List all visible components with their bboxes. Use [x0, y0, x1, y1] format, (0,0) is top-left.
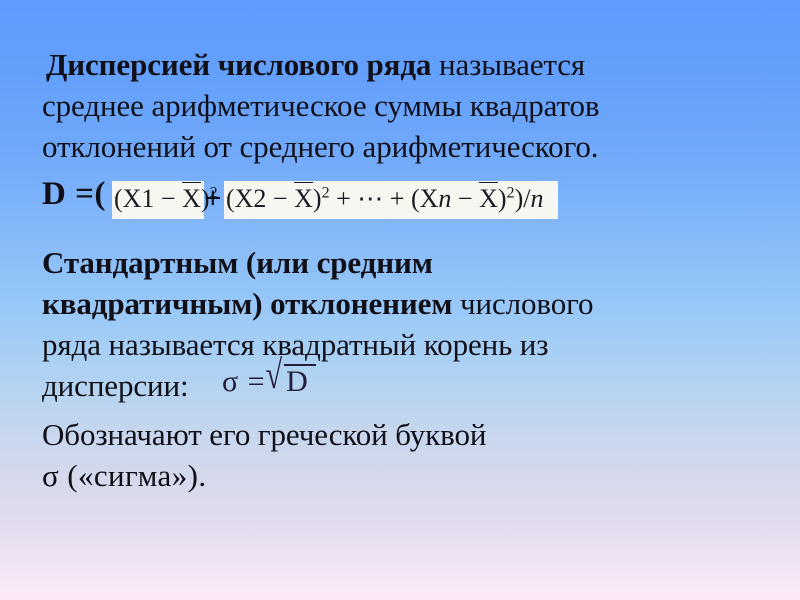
- definition-line-3: отклонений от среднего арифметического.: [0, 126, 800, 167]
- term2-tail: )/: [515, 184, 531, 213]
- notation-line-2-rest: («сигма»).: [59, 458, 206, 493]
- term2-power: 2: [322, 184, 330, 201]
- radical-icon: √: [266, 346, 283, 405]
- term2-index: n: [438, 184, 451, 213]
- term2-power-2: 2: [507, 184, 515, 201]
- paragraph-variance-definition: Дисперсией числового ряда называется сре…: [0, 44, 800, 167]
- formula-variance-plus: +: [204, 178, 222, 218]
- term2-mean-overline: X: [294, 181, 313, 217]
- standard-line-2-rest: числового: [452, 286, 593, 321]
- standard-term-bold-2: квадратичным) отклонением: [42, 286, 452, 321]
- definition-line-1-rest: называется: [431, 47, 585, 82]
- term2-close-2: ): [498, 184, 507, 213]
- formula-sigma: σ =√D: [222, 360, 332, 410]
- term2-open: (X2 −: [226, 184, 294, 213]
- formula-variance-lead: D =(: [42, 174, 106, 214]
- formula-variance-term-1: (X1 − X)2: [112, 181, 204, 219]
- definition-term-bold: Дисперсией числового ряда: [46, 47, 431, 82]
- term1-open: (X1 −: [114, 184, 182, 213]
- definition-line-1: Дисперсией числового ряда называется: [0, 44, 800, 85]
- term2-mean-overline-2: X: [479, 181, 498, 217]
- standard-line-4: дисперсии:: [0, 365, 800, 406]
- term2-dash: −: [451, 184, 479, 213]
- term1-mean-overline: X: [182, 181, 201, 217]
- sigma-symbol: σ: [222, 365, 239, 398]
- standard-line-1: Стандартным (или средним: [0, 242, 800, 283]
- definition-line-2: среднее арифметическое суммы квадратов: [0, 85, 800, 126]
- standard-line-2: квадратичным) отклонением числового: [0, 283, 800, 324]
- standard-term-bold-1: Стандартным (или средним: [42, 245, 433, 280]
- term2-close: ): [313, 184, 322, 213]
- standard-line-3: ряда называется квадратный корень из: [0, 324, 800, 365]
- paragraph-standard-deviation: Стандартным (или средним квадратичным) о…: [0, 242, 800, 406]
- formula-variance-term-2: (X2 − X)2 + ⋯ + (Xn − X)2)/n: [224, 181, 558, 219]
- notation-sigma-symbol: σ: [42, 458, 59, 493]
- sigma-equals: =: [239, 365, 265, 398]
- slide-canvas: Дисперсией числового ряда называется сре…: [0, 0, 800, 600]
- notation-line-2: σ («сигма»).: [0, 455, 800, 496]
- term2-divisor: n: [530, 184, 543, 213]
- term2-middle: + ⋯ + (X: [330, 184, 439, 213]
- sigma-radicand: D: [284, 360, 312, 404]
- notation-line-1: Обозначают его греческой буквой: [0, 414, 800, 455]
- paragraph-sigma-notation: Обозначают его греческой буквой σ («сигм…: [0, 414, 800, 496]
